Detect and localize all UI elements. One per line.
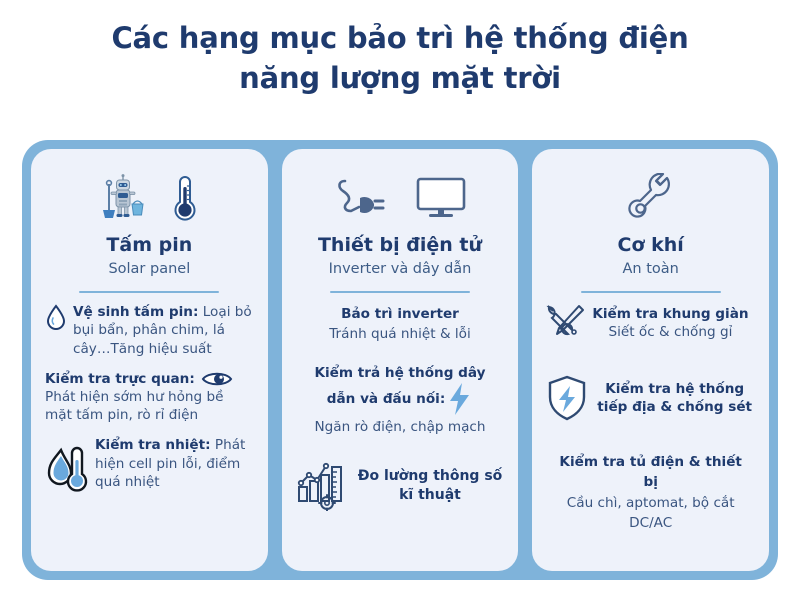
list-item-body: Ngăn rò điện, chập mạch xyxy=(314,419,485,435)
card-subtitle: Inverter và dây dẫn xyxy=(329,261,472,278)
card-subtitle: Solar panel xyxy=(108,261,190,278)
divider xyxy=(581,291,721,293)
list-item-text: Kiểm tra khung giànSiết ốc & chống gỉ xyxy=(592,305,748,341)
list-item-text: Kiểm tra hệ thống tiếp địa & chống sét xyxy=(594,380,755,416)
card-solar-panel: Tấm pin Solar panel Vệ sinh tấm pin: Loạ… xyxy=(31,149,268,571)
list-item-bold: Kiểm tra trực quan: xyxy=(45,371,195,387)
list-item-text: Kiểm tra nhiệt: Phát hiện cell pin lỗi, … xyxy=(95,436,254,491)
list-item-text: Bảo trì inverterTránh quá nhiệt & lỗi xyxy=(329,306,471,342)
list-item-bold: Kiểm tra nhiệt: xyxy=(95,437,211,453)
list-item-bold: Vệ sinh tấm pin: xyxy=(73,304,198,320)
card-title: Tấm pin xyxy=(106,235,192,257)
cleaning-robot-icon xyxy=(99,174,145,222)
list-item-text: Đo lường thông số kĩ thuật xyxy=(356,467,505,505)
cards-container: Tấm pin Solar panel Vệ sinh tấm pin: Loạ… xyxy=(22,140,778,580)
card-header-icons xyxy=(333,167,467,229)
card-title: Thiết bị điện tử xyxy=(318,235,482,257)
list-item-text: Kiểm tra trực quan: Phát hiện sớm hư hỏn… xyxy=(45,370,254,425)
wrench-icon xyxy=(626,173,676,223)
card-items: Bảo trì inverterTránh quá nhiệt & lỗi Ki… xyxy=(292,303,509,561)
page-title-line2: năng lượng mặt trời xyxy=(0,58,800,98)
list-item: Kiểm tra trực quan: Phát hiện sớm hư hỏn… xyxy=(41,370,258,425)
flame-thermometer-icon xyxy=(45,442,89,496)
list-item-body: Phát hiện sớm hư hỏng bề mặt tấm pin, rò… xyxy=(45,389,224,423)
card-title: Cơ khí xyxy=(618,235,684,257)
list-item: Kiểm tra tủ điện & thiết bịCầu chì, apto… xyxy=(542,451,759,532)
eye-icon xyxy=(201,370,233,388)
list-item-bold: Đo lường thông số kĩ thuật xyxy=(358,468,503,503)
infographic-page: Các hạng mục bảo trì hệ thống điện năng … xyxy=(0,0,800,600)
card-header-icons xyxy=(626,167,676,229)
list-item: Vệ sinh tấm pin: Loại bỏ bụi bẩn, phân c… xyxy=(41,303,258,358)
card-electronics: Thiết bị điện tử Inverter và dây dẫn Bảo… xyxy=(282,149,519,571)
card-header-icons xyxy=(99,167,199,229)
list-item-text: Vệ sinh tấm pin: Loại bỏ bụi bẩn, phân c… xyxy=(73,303,254,358)
monitor-icon xyxy=(415,176,467,220)
card-subtitle: An toàn xyxy=(623,261,679,278)
list-item-text: Kiểm trả hệ thống dây dẫn và đấu nối: Ng… xyxy=(314,365,485,435)
water-drop-icon xyxy=(45,304,67,330)
list-item: Kiểm tra nhiệt: Phát hiện cell pin lỗi, … xyxy=(41,436,258,496)
list-item-bold: Kiểm tra hệ thống tiếp địa & chống sét xyxy=(597,381,752,415)
list-item-bold: Kiểm tra tủ điện & thiết bị xyxy=(559,454,742,490)
card-items: Kiểm tra khung giànSiết ốc & chống gỉ Ki… xyxy=(542,303,759,561)
list-item-bold: Bảo trì inverter xyxy=(341,306,459,322)
divider xyxy=(79,291,219,293)
list-item-body: Tránh quá nhiệt & lỗi xyxy=(329,326,471,342)
measurement-chart-icon xyxy=(296,461,348,511)
shield-bolt-icon xyxy=(546,375,588,421)
list-item: Kiểm trả hệ thống dây dẫn và đấu nối: Ng… xyxy=(292,362,509,436)
lightning-bolt-icon xyxy=(447,382,473,416)
list-item-text: Kiểm tra tủ điện & thiết bịCầu chì, apto… xyxy=(559,454,742,531)
page-title: Các hạng mục bảo trì hệ thống điện năng … xyxy=(0,18,800,98)
wrench-screwdriver-icon xyxy=(546,304,586,342)
list-item: Đo lường thông số kĩ thuật xyxy=(292,460,509,511)
list-item: Kiểm tra khung giànSiết ốc & chống gỉ xyxy=(542,303,759,342)
card-mechanical: Cơ khí An toàn Kiểm tra khung giànSiết ố… xyxy=(532,149,769,571)
list-item-body: Siết ốc & chống gỉ xyxy=(609,324,733,340)
page-title-line1: Các hạng mục bảo trì hệ thống điện xyxy=(111,21,688,55)
thermometer-icon xyxy=(171,173,199,223)
list-item: Kiểm tra hệ thống tiếp địa & chống sét xyxy=(542,374,759,421)
power-plug-icon xyxy=(333,175,389,221)
list-item: Bảo trì inverterTránh quá nhiệt & lỗi xyxy=(292,303,509,343)
divider xyxy=(330,291,470,293)
list-item-body: Cầu chì, aptomat, bộ cắt DC/AC xyxy=(567,495,735,531)
card-items: Vệ sinh tấm pin: Loại bỏ bụi bẩn, phân c… xyxy=(41,303,258,561)
list-item-bold: Kiểm tra khung giàn xyxy=(592,306,748,322)
